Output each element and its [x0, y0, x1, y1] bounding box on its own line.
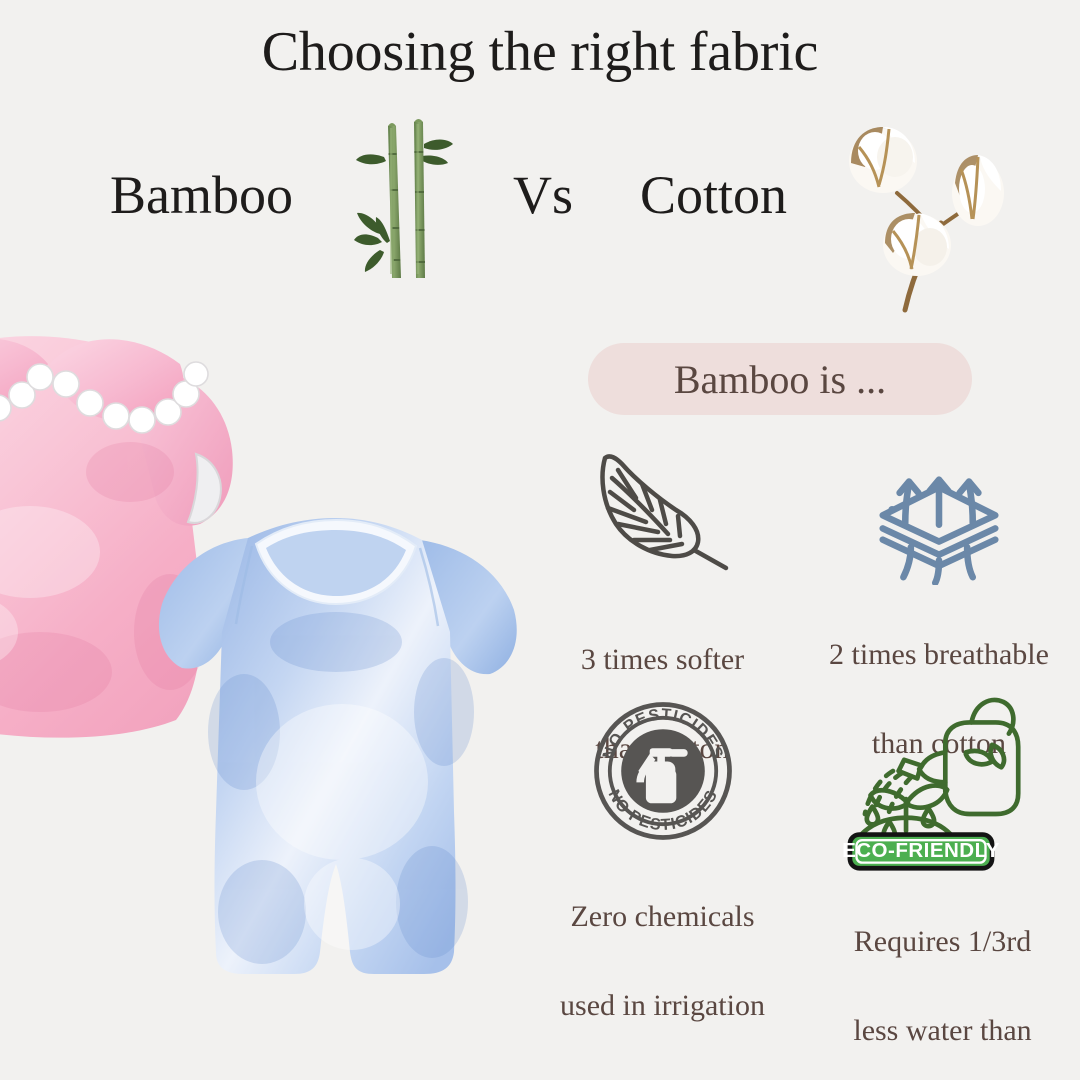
feature-softer-line1: 3 times softer: [581, 643, 744, 676]
watering-can-sprout-icon: ECO-FRIENDLY: [805, 685, 1080, 872]
feature-less-water: ECO-FRIENDLY Requires 1/3rd less water t…: [805, 685, 1080, 1080]
feature-less-water-caption: Requires 1/3rd less water than cotton: [805, 876, 1080, 1080]
feature-less-water-line2: less water than: [853, 1014, 1031, 1047]
bamboo-is-banner: Bamboo is ...: [588, 343, 972, 415]
feature-no-pesticides-line1: Zero chemicals: [570, 900, 754, 933]
features-grid: 3 times softer than cotton: [520, 440, 1080, 1060]
breathable-layers-icon: [798, 440, 1080, 585]
bamboo-stalks-illustration: [352, 110, 462, 280]
feature-no-pesticides-caption: Zero chemicals used in irrigation: [530, 851, 795, 1029]
comparison-left-label: Bamboo: [110, 140, 293, 250]
feather-icon: [535, 440, 790, 590]
bamboo-is-banner-label: Bamboo is ...: [674, 356, 886, 403]
comparison-vs-label: Vs: [513, 140, 573, 250]
infographic-canvas: Choosing the right fabric Bamboo Vs Cott…: [0, 0, 1080, 1080]
feature-breathable-line1: 2 times breathable: [829, 638, 1049, 671]
comparison-right-label: Cotton: [640, 140, 787, 250]
feature-less-water-line1: Requires 1/3rd: [854, 925, 1031, 958]
feature-no-pesticides: NO PESTICIDES NO PESTICIDES: [530, 695, 795, 1029]
eco-friendly-badge-label: ECO-FRIENDLY: [842, 839, 1000, 862]
feature-no-pesticides-line2: used in irrigation: [560, 989, 765, 1022]
no-pesticides-badge-icon: NO PESTICIDES NO PESTICIDES: [530, 695, 795, 847]
page-title: Choosing the right fabric: [0, 22, 1080, 84]
blue-baby-romper-watercolor: [152, 512, 532, 1057]
cotton-branch-illustration: [835, 105, 1025, 315]
